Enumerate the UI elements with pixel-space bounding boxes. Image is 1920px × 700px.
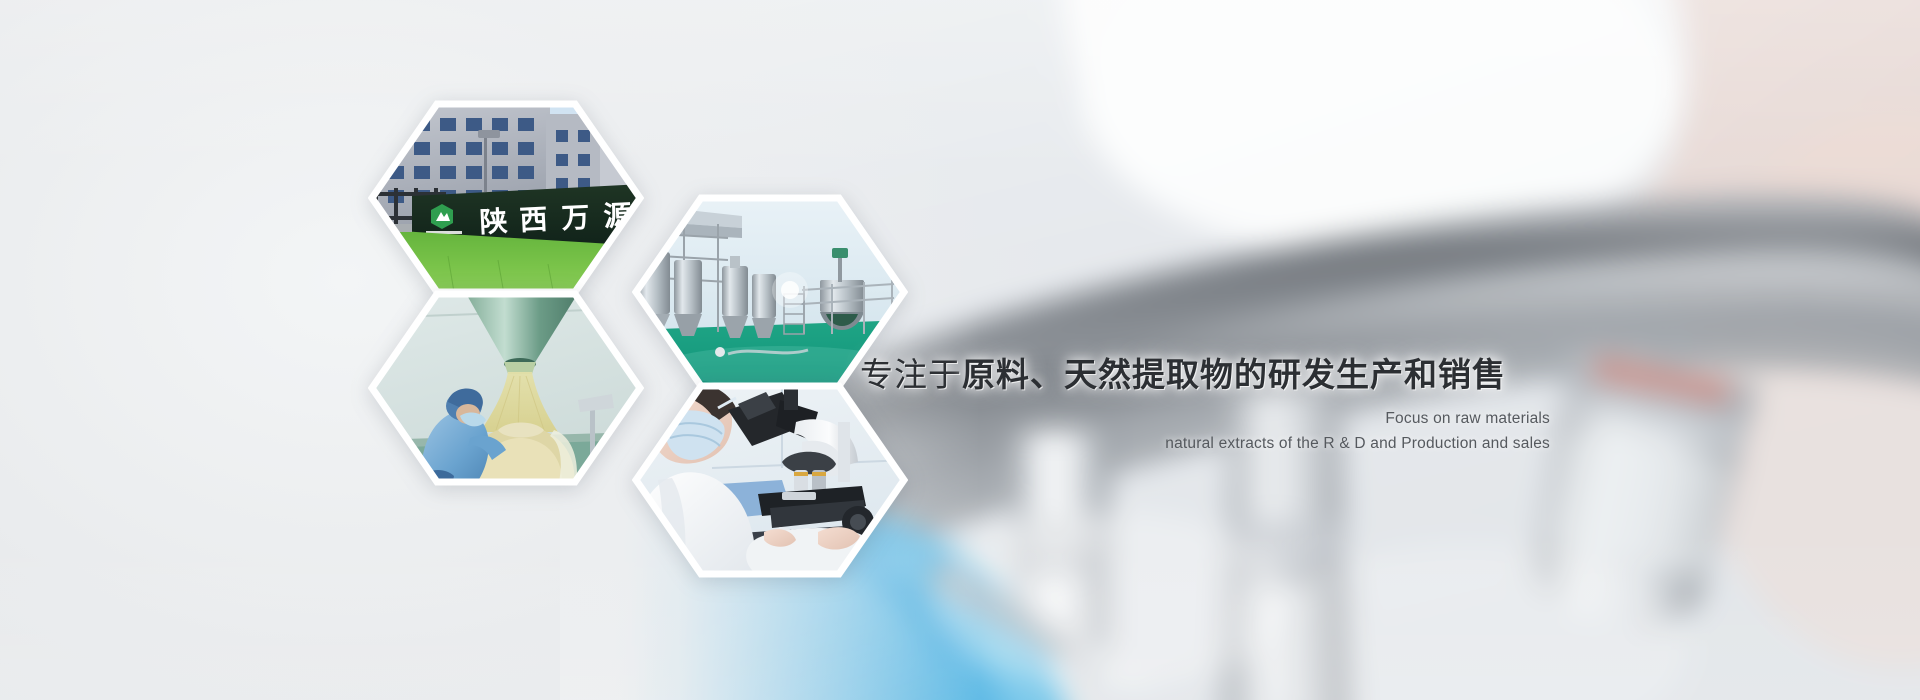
hex-photo-packaging-worker[interactable] bbox=[368, 290, 644, 486]
hero-banner: 陕 西 万 源 bbox=[0, 0, 1920, 700]
svg-text:西: 西 bbox=[519, 205, 548, 237]
headline-emphasis: 原料、天然提取物的研发生产和销售 bbox=[962, 356, 1506, 393]
subtitle-line-2: natural extracts of the R & D and Produc… bbox=[860, 431, 1550, 456]
hex-photo-factory-exterior[interactable]: 陕 西 万 源 bbox=[368, 100, 644, 296]
banner-copy: 专注于原料、天然提取物的研发生产和销售 Focus on raw materia… bbox=[860, 352, 1560, 456]
svg-text:陕: 陕 bbox=[479, 206, 509, 239]
headline: 专注于原料、天然提取物的研发生产和销售 bbox=[860, 352, 1560, 398]
headline-lead: 专注于 bbox=[860, 356, 962, 393]
svg-text:万: 万 bbox=[561, 203, 590, 235]
subtitle-line-1: Focus on raw materials bbox=[860, 406, 1550, 431]
hex-photo-gallery: 陕 西 万 源 bbox=[0, 0, 920, 700]
